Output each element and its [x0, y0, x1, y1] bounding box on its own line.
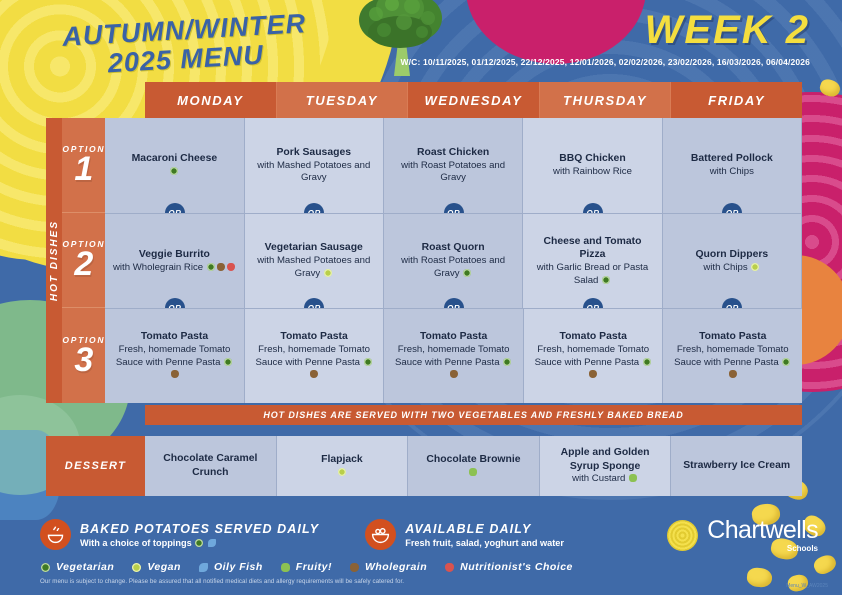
dessert-monday: Chocolate Caramel Crunch — [151, 452, 270, 479]
whole-icon — [450, 370, 458, 378]
vegan-icon — [132, 563, 141, 572]
vegan-icon — [338, 468, 346, 476]
dish-option2-friday: Quorn Dipperswith Chips — [695, 248, 768, 274]
whole-icon — [171, 370, 179, 378]
dessert-cell-tuesday[interactable]: Flapjack — [277, 436, 409, 496]
dessert-thursday-sub: with Custard — [572, 473, 625, 484]
dessert-tuesday: Flapjack — [321, 453, 363, 479]
legend-item-vegan: Vegan — [131, 561, 181, 573]
menu-cell-option2-tuesday[interactable]: Vegetarian Sausagewith Mashed Potatoes a… — [245, 213, 384, 308]
veg-icon — [463, 269, 471, 277]
chartwells-spiral-icon — [667, 520, 698, 551]
legend-label-whole: Wholegrain — [365, 561, 427, 573]
menu-cell-option2-thursday[interactable]: Cheese and Tomato Pizzawith Garlic Bread… — [523, 213, 662, 308]
menu-cell-option3-wednesday[interactable]: Tomato PastaFresh, homemade Tomato Sauce… — [384, 308, 524, 403]
dish-option2-tuesday: Vegetarian Sausagewith Mashed Potatoes a… — [251, 241, 377, 280]
legend-item-nutri: Nutritionist's Choice — [444, 561, 573, 573]
dish-option3-wednesday-sub: Fresh, homemade Tomato Sauce with Penne … — [395, 344, 510, 368]
dish-option2-friday-name: Quorn Dippers — [695, 248, 768, 262]
legend-item-veg: Vegetarian — [40, 561, 114, 573]
menu-cell-option1-thursday[interactable]: BBQ Chickenwith Rainbow Rice — [523, 118, 662, 213]
dessert-thursday-name: Apple and Golden Syrup Sponge — [546, 446, 665, 473]
fish-icon — [199, 563, 208, 572]
available-daily-sub: Fresh fruit, salad, yoghurt and water — [405, 538, 564, 548]
dish-option1-friday-sub: with Chips — [710, 166, 754, 177]
dessert-monday-name: Chocolate Caramel Crunch — [151, 452, 270, 479]
dish-option1-tuesday-name: Pork Sausages — [251, 146, 377, 160]
veg-icon — [224, 358, 232, 366]
baked-potato-icon — [40, 519, 71, 550]
dessert-cell-wednesday[interactable]: Chocolate Brownie — [408, 436, 540, 496]
legend-label-fish: Oily Fish — [214, 561, 263, 573]
baked-potatoes-text: BAKED POTATOES SERVED DAILY With a choic… — [80, 522, 319, 548]
legend-label-vegan: Vegan — [147, 561, 181, 573]
menu-cell-option1-wednesday[interactable]: Roast Chickenwith Roast Potatoes and Gra… — [384, 118, 523, 213]
dish-option3-tuesday: Tomato PastaFresh, homemade Tomato Sauce… — [251, 330, 378, 382]
legend-item-fruit: Fruity! — [280, 561, 332, 573]
dish-option2-thursday-sub: with Garlic Bread or Pasta Salad — [537, 262, 648, 286]
day-header-wednesday: WEDNESDAY — [408, 82, 540, 118]
menu-row-option2: Veggie Burritowith Wholegrain Rice Veget… — [105, 213, 802, 308]
dish-option2-thursday-name: Cheese and Tomato Pizza — [529, 235, 655, 262]
oily-fish-icon — [208, 539, 216, 547]
dish-option3-wednesday: Tomato PastaFresh, homemade Tomato Sauce… — [390, 330, 517, 382]
dish-option2-wednesday-name: Roast Quorn — [390, 241, 516, 255]
dish-option2-wednesday-sub: with Roast Potatoes and Gravy — [401, 255, 505, 279]
baked-potatoes-sub-text: With a choice of toppings — [80, 538, 192, 548]
dessert-section: DESSERT Chocolate Caramel Crunch Flapjac… — [46, 436, 802, 496]
hot-dishes-label-text: HOT DISHES — [49, 220, 60, 301]
baked-potatoes-title: BAKED POTATOES SERVED DAILY — [80, 522, 319, 536]
menu-cell-option3-monday[interactable]: Tomato PastaFresh, homemade Tomato Sauce… — [105, 308, 245, 403]
whole-icon — [350, 563, 359, 572]
legend-label-nutri: Nutritionist's Choice — [460, 561, 573, 573]
day-header-friday: FRIDAY — [671, 82, 802, 118]
menu-cell-option2-wednesday[interactable]: Roast Quornwith Roast Potatoes and Gravy — [384, 213, 523, 308]
dish-option3-friday-name: Tomato Pasta — [669, 330, 796, 344]
dish-option2-tuesday-sub: with Mashed Potatoes and Gravy — [257, 255, 370, 279]
menu-row-option3: Tomato PastaFresh, homemade Tomato Sauce… — [105, 308, 802, 403]
day-header-monday: MONDAY — [145, 82, 277, 118]
dish-option3-monday-sub: Fresh, homemade Tomato Sauce with Penne … — [116, 344, 231, 368]
dessert-wednesday: Chocolate Brownie — [426, 453, 520, 479]
dessert-grid: Chocolate Caramel Crunch Flapjack Chocol… — [145, 436, 802, 496]
whole-icon — [589, 370, 597, 378]
dish-option2-friday-sub: with Chips — [703, 262, 747, 273]
hot-dishes-label: HOT DISHES — [46, 118, 62, 403]
dish-option1-monday-name: Macaroni Cheese — [132, 152, 217, 166]
whole-icon — [729, 370, 737, 378]
option-label-3: OPTION3 — [62, 308, 105, 403]
dessert-cell-thursday[interactable]: Apple and Golden Syrup Spongewith Custar… — [540, 436, 672, 496]
legend-label-fruit: Fruity! — [296, 561, 332, 573]
veg-icon — [782, 358, 790, 366]
available-daily-item: AVAILABLE DAILY Fresh fruit, salad, yogh… — [365, 519, 564, 550]
baked-potatoes-item: BAKED POTATOES SERVED DAILY With a choic… — [40, 519, 319, 550]
dish-option1-thursday-name: BBQ Chicken — [553, 152, 632, 166]
hot-dishes-banner: HOT DISHES ARE SERVED WITH TWO VEGETABLE… — [145, 405, 802, 425]
menu-row-option1: Macaroni Cheese Pork Sausageswith Mashed… — [105, 118, 802, 213]
veg-icon — [602, 276, 610, 284]
legend-item-whole: Wholegrain — [349, 561, 427, 573]
dish-option3-monday: Tomato PastaFresh, homemade Tomato Sauce… — [111, 330, 238, 382]
dish-option2-tuesday-name: Vegetarian Sausage — [251, 241, 377, 255]
dessert-thursday: Apple and Golden Syrup Spongewith Custar… — [546, 446, 665, 486]
fruit-icon — [629, 474, 637, 482]
option-label-2: OPTION2 — [62, 213, 105, 308]
legend-label-veg: Vegetarian — [56, 561, 114, 573]
dietary-legend: VegetarianVeganOily FishFruity!Wholegrai… — [40, 561, 822, 573]
dish-option1-monday: Macaroni Cheese — [132, 152, 217, 178]
dish-option3-thursday-sub: Fresh, homemade Tomato Sauce with Penne … — [535, 344, 650, 368]
document-code: Menu_W_AW2025 — [786, 583, 828, 589]
baked-potatoes-sub: With a choice of toppings — [80, 538, 319, 548]
dessert-tuesday-name: Flapjack — [321, 453, 363, 467]
veg-icon — [170, 167, 178, 175]
dish-option3-friday: Tomato PastaFresh, homemade Tomato Sauce… — [669, 330, 796, 382]
whole-icon — [310, 370, 318, 378]
available-daily-text: AVAILABLE DAILY Fresh fruit, salad, yogh… — [405, 522, 564, 548]
week-commencing-dates: W/C: 10/11/2025, 01/12/2025, 22/12/2025,… — [401, 57, 811, 67]
hot-dishes-section: HOT DISHES OPTION1OPTION2OPTION3 Macaron… — [46, 118, 802, 403]
dish-option3-tuesday-sub: Fresh, homemade Tomato Sauce with Penne … — [255, 344, 370, 368]
menu-cell-option2-friday[interactable]: Quorn Dipperswith Chips — [663, 213, 802, 308]
day-header-thursday: THURSDAY — [540, 82, 672, 118]
dish-option2-monday-name: Veggie Burrito — [113, 248, 236, 262]
vegan-icon — [324, 269, 332, 277]
dish-option1-thursday-sub: with Rainbow Rice — [553, 166, 632, 177]
dish-option3-wednesday-name: Tomato Pasta — [390, 330, 517, 344]
dish-option1-wednesday: Roast Chickenwith Roast Potatoes and Gra… — [390, 146, 516, 185]
menu-row-dessert: Chocolate Caramel Crunch Flapjack Chocol… — [145, 436, 802, 496]
veg-icon — [207, 263, 215, 271]
dish-option2-wednesday: Roast Quornwith Roast Potatoes and Gravy — [390, 241, 516, 280]
day-header-tuesday: TUESDAY — [277, 82, 409, 118]
vegan-icon — [751, 263, 759, 271]
available-daily-title: AVAILABLE DAILY — [405, 522, 564, 536]
dish-option3-monday-name: Tomato Pasta — [111, 330, 238, 344]
vegetarian-icon — [195, 539, 203, 547]
disclaimer-text: Our menu is subject to change. Please be… — [40, 578, 822, 585]
dish-option1-tuesday: Pork Sausageswith Mashed Potatoes and Gr… — [251, 146, 377, 185]
legend-item-fish: Oily Fish — [198, 561, 263, 573]
nutri-icon — [227, 263, 235, 271]
veg-icon — [41, 563, 50, 572]
menu-cell-option3-tuesday[interactable]: Tomato PastaFresh, homemade Tomato Sauce… — [245, 308, 385, 403]
menu-cell-option3-thursday[interactable]: Tomato PastaFresh, homemade Tomato Sauce… — [524, 308, 664, 403]
chartwells-logo: Chartwells Schools — [667, 518, 818, 553]
fruit-icon — [469, 468, 477, 476]
week-badge: WEEK 2 — [645, 8, 810, 53]
dish-option2-thursday: Cheese and Tomato Pizzawith Garlic Bread… — [529, 235, 655, 288]
dessert-friday-name: Strawberry Ice Cream — [683, 459, 790, 473]
dish-option2-monday: Veggie Burritowith Wholegrain Rice — [113, 248, 236, 274]
dessert-cell-friday[interactable]: Strawberry Ice Cream — [671, 436, 802, 496]
menu-cell-option1-tuesday[interactable]: Pork Sausageswith Mashed Potatoes and Gr… — [245, 118, 384, 213]
menu-cell-option3-friday[interactable]: Tomato PastaFresh, homemade Tomato Sauce… — [663, 308, 802, 403]
veg-icon — [503, 358, 511, 366]
dish-option1-wednesday-name: Roast Chicken — [390, 146, 516, 160]
whole-icon — [217, 263, 225, 271]
nutri-icon — [445, 563, 454, 572]
menu-cell-option1-friday[interactable]: Battered Pollockwith Chips — [663, 118, 802, 213]
dish-option2-monday-sub: with Wholegrain Rice — [113, 262, 203, 273]
dessert-wednesday-name: Chocolate Brownie — [426, 453, 520, 467]
salad-bowl-icon — [365, 519, 396, 550]
hot-dishes-grid: Macaroni Cheese Pork Sausageswith Mashed… — [105, 118, 802, 403]
sweetcorn-decoration-top — [806, 78, 842, 118]
dish-option3-thursday: Tomato PastaFresh, homemade Tomato Sauce… — [530, 330, 657, 382]
veg-icon — [364, 358, 372, 366]
option-label-column: OPTION1OPTION2OPTION3 — [62, 118, 105, 403]
menu-cell-option2-monday[interactable]: Veggie Burritowith Wholegrain Rice — [105, 213, 244, 308]
dish-option3-thursday-name: Tomato Pasta — [530, 330, 657, 344]
brand-sub: Schools — [707, 544, 818, 553]
day-header-row: MONDAYTUESDAYWEDNESDAYTHURSDAYFRIDAY — [145, 82, 802, 118]
dish-option1-wednesday-sub: with Roast Potatoes and Gravy — [401, 160, 505, 184]
menu-table: MONDAYTUESDAYWEDNESDAYTHURSDAYFRIDAY HOT… — [46, 82, 802, 496]
dessert-cell-monday[interactable]: Chocolate Caramel Crunch — [145, 436, 277, 496]
dish-option3-tuesday-name: Tomato Pasta — [251, 330, 378, 344]
dish-option1-friday-name: Battered Pollock — [691, 152, 773, 166]
veg-icon — [643, 358, 651, 366]
dish-option1-thursday: BBQ Chickenwith Rainbow Rice — [553, 152, 632, 178]
brand-name: Chartwells — [707, 518, 818, 543]
dish-option3-friday-sub: Fresh, homemade Tomato Sauce with Penne … — [674, 344, 789, 368]
fruit-icon — [281, 563, 290, 572]
dessert-label: DESSERT — [46, 436, 145, 496]
dessert-friday: Strawberry Ice Cream — [683, 459, 790, 473]
dish-option1-tuesday-sub: with Mashed Potatoes and Gravy — [257, 160, 370, 184]
menu-cell-option1-monday[interactable]: Macaroni Cheese — [105, 118, 244, 213]
option-label-1: OPTION1 — [62, 118, 105, 213]
dish-option1-friday: Battered Pollockwith Chips — [691, 152, 773, 178]
